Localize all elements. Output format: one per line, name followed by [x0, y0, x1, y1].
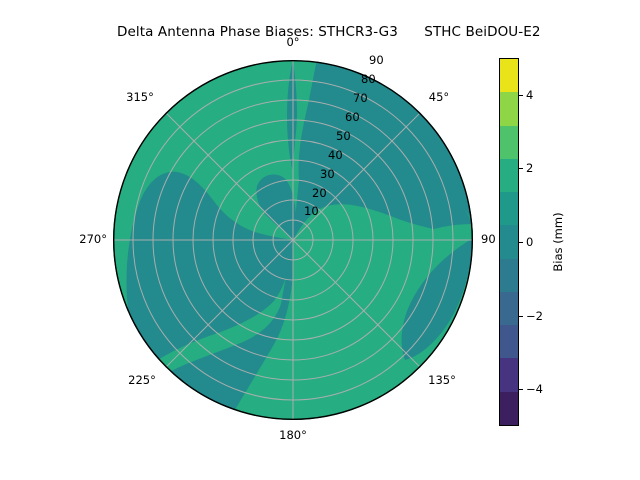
- colorbar-tick-0: [519, 95, 523, 96]
- colorbar-band-5: [500, 225, 518, 258]
- title-text: Delta Antenna Phase Biases: STHCR3-G3 ST…: [117, 24, 541, 40]
- colorbar-band-1: [500, 92, 518, 125]
- colorbar-ticklabel-3: −2: [526, 309, 543, 323]
- colorbar-band-10: [500, 392, 518, 425]
- radial-tick-label-60: 60: [345, 110, 360, 124]
- colorbar-tick-2: [519, 242, 523, 243]
- colorbar-tick-4: [519, 389, 523, 390]
- colorbar-gradient: [499, 58, 519, 426]
- colorbar-ticklabel-2: 0: [526, 235, 533, 249]
- azimuth-tick-180: 180°: [269, 428, 317, 442]
- colorbar-band-4: [500, 192, 518, 225]
- colorbar-axis-label: Bias (mm): [551, 212, 565, 271]
- radial-tick-label-80: 80: [361, 72, 376, 86]
- colorbar-band-7: [500, 292, 518, 325]
- azimuth-tick-270: 270°: [59, 232, 107, 246]
- colorbar-band-8: [500, 325, 518, 358]
- radial-tick-label-40: 40: [328, 148, 343, 162]
- matplotlib-figure: Delta Antenna Phase Biases: STHCR3-G3 ST…: [0, 0, 640, 480]
- colorbar-band-9: [500, 358, 518, 391]
- page-title: Delta Antenna Phase Biases: STHCR3-G3 ST…: [0, 8, 640, 56]
- colorbar-ticklabel-1: 2: [526, 161, 533, 175]
- radial-tick-label-20: 20: [312, 186, 327, 200]
- radial-tick-label-10: 10: [304, 204, 319, 218]
- colorbar-tick-3: [519, 316, 523, 317]
- radial-tick-label-30: 30: [320, 167, 335, 181]
- colorbar-ticklabel-4: −4: [526, 382, 543, 396]
- colorbar-band-0: [500, 59, 518, 92]
- colorbar-band-2: [500, 126, 518, 159]
- radial-tick-label-70: 70: [353, 91, 368, 105]
- colorbar-ticklabel-0: 4: [526, 88, 533, 102]
- colorbar-band-3: [500, 159, 518, 192]
- radial-tick-labels: 10 20 30 40 50 60 70 80 90: [113, 60, 473, 420]
- colorbar: 420−2−4: [499, 58, 519, 426]
- radial-tick-label-90: 90: [369, 53, 384, 67]
- colorbar-band-6: [500, 259, 518, 292]
- azimuth-tick-0: 0°: [277, 35, 309, 49]
- colorbar-tick-1: [519, 168, 523, 169]
- radial-tick-label-50: 50: [336, 129, 351, 143]
